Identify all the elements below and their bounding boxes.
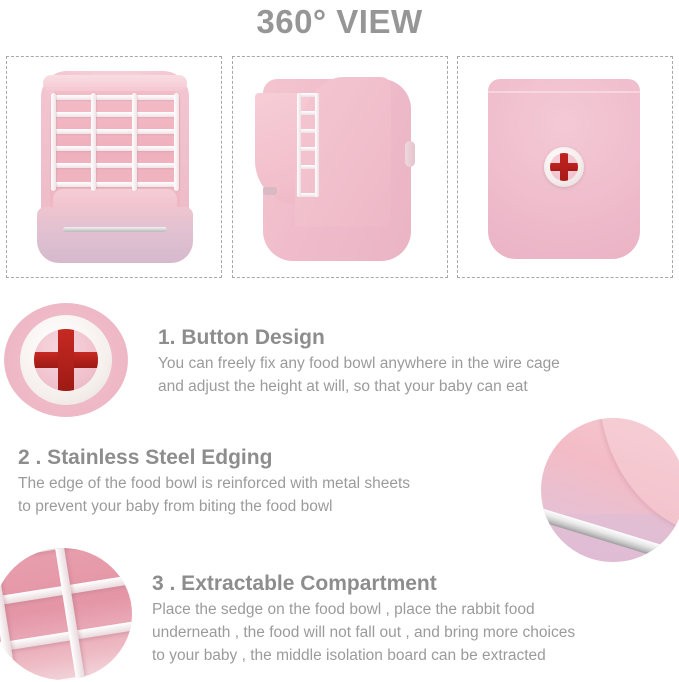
feature-2-body: The edge of the food bowl is reinforced …: [18, 472, 528, 518]
feature-stainless-steel-edging: 2 . Stainless Steel Edging The edge of t…: [18, 444, 528, 518]
back-view-image: [458, 57, 672, 277]
feature-1-line-2: and adjust the height at will, so that y…: [158, 375, 658, 398]
grid-closeup-bars: [0, 548, 132, 680]
feature-1-line-1: You can freely fix any food bowl anywher…: [158, 352, 658, 375]
front-view-image: [7, 57, 221, 277]
side-view-image: [233, 57, 447, 277]
grid-closeup-photo: [0, 548, 132, 680]
feature-3-body: Place the sedge on the food bowl , place…: [152, 598, 672, 667]
feature-3-line-1: Place the sedge on the food bowl , place…: [152, 598, 672, 621]
side-ladder-grid: [297, 93, 319, 197]
feature-3-line-3: to your baby , the middle isolation boar…: [152, 644, 672, 667]
feature-3-heading: 3 . Extractable Compartment: [152, 570, 672, 598]
bowl-rim: [43, 75, 187, 91]
feature-button-design: 1. Button Design You can freely fix any …: [158, 324, 658, 398]
feature-2-heading: 2 . Stainless Steel Edging: [18, 444, 528, 472]
button-core: [550, 153, 578, 181]
product-panel-side-view: [232, 56, 448, 278]
feature-1-heading: 1. Button Design: [158, 324, 658, 352]
steel-edging-closeup-photo: [541, 418, 679, 562]
red-cross-button-icon: [544, 147, 584, 187]
button-red-cross-core: [34, 329, 98, 391]
side-foot-tab: [263, 187, 277, 195]
product-panel-front-view: [6, 56, 222, 278]
feature-2-line-1: The edge of the food bowl is reinforced …: [18, 472, 528, 495]
side-mount-knob: [405, 141, 415, 167]
button-closeup-photo: [4, 303, 128, 417]
wire-cage-grid: [51, 95, 179, 189]
feature-1-body: You can freely fix any food bowl anywher…: [158, 352, 658, 398]
feature-3-line-2: underneath , the food will not fall out …: [152, 621, 672, 644]
product-panel-back-view: [457, 56, 673, 278]
feature-extractable-compartment: 3 . Extractable Compartment Place the se…: [152, 570, 672, 667]
page-title: 360° VIEW: [0, 2, 679, 42]
product-view-panels: [6, 56, 673, 278]
pull-out-drawer: [37, 207, 193, 263]
feature-2-line-2: to prevent your baby from biting the foo…: [18, 495, 528, 518]
drawer-steel-handle: [63, 227, 167, 232]
bowl-back-seam: [488, 91, 640, 93]
